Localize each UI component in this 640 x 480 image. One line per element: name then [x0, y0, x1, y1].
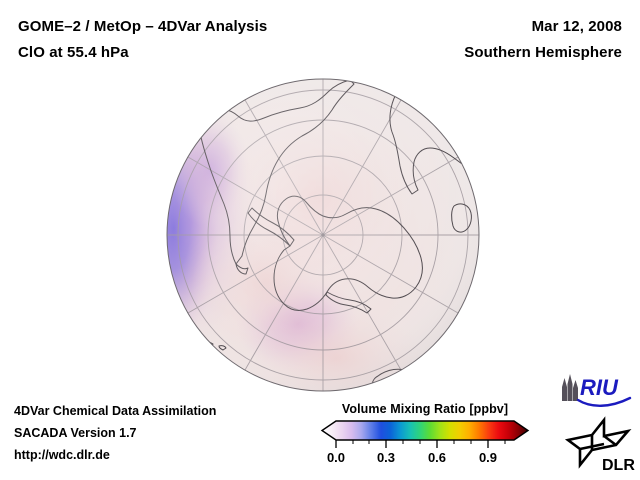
globe-svg — [166, 78, 480, 392]
colorbar: Volume Mixing Ratio [ppbv] — [312, 402, 538, 471]
dlr-logo-svg: DLR — [564, 414, 636, 476]
riu-tower-mark — [562, 374, 578, 401]
colorbar-gradient-bar — [322, 421, 528, 440]
riu-logo-svg: RIU — [558, 371, 638, 409]
colorbar-tick-label-0: 0.0 — [327, 450, 345, 465]
dlr-logo-text: DLR — [602, 457, 635, 474]
colorbar-svg: 0.0 0.3 0.6 0.9 — [312, 419, 538, 471]
colorbar-tick-label-2: 0.6 — [428, 450, 446, 465]
riu-logo-text: RIU — [580, 375, 619, 400]
coastline-new-zealand — [452, 377, 466, 390]
page-title: GOME–2 / MetOp – 4DVar Analysis — [18, 14, 267, 40]
globe-map — [166, 78, 480, 392]
region-label: Southern Hemisphere — [464, 40, 622, 66]
colorbar-tick-label-1: 0.3 — [377, 450, 395, 465]
colorbar-title: Volume Mixing Ratio [ppbv] — [312, 402, 538, 416]
sphere-shading — [167, 79, 479, 391]
colorbar-ticks — [336, 440, 488, 448]
observation-date: Mar 12, 2008 — [464, 14, 622, 40]
page-subtitle-species-level: ClO at 55.4 hPa — [18, 40, 267, 66]
footer-attribution: 4DVar Chemical Data Assimilation SACADA … — [14, 400, 216, 466]
footer-url-line: http://wdc.dlr.de — [14, 444, 216, 466]
header-left-block: GOME–2 / MetOp – 4DVar Analysis ClO at 5… — [18, 14, 267, 66]
header-right-block: Mar 12, 2008 Southern Hemisphere — [464, 14, 622, 66]
colorbar-tick-labels: 0.0 0.3 0.6 0.9 — [327, 450, 497, 465]
footer-version-line: SACADA Version 1.7 — [14, 422, 216, 444]
dlr-logo: DLR — [564, 414, 636, 476]
riu-logo: RIU — [558, 371, 638, 409]
footer-product-line: 4DVar Chemical Data Assimilation — [14, 400, 216, 422]
colorbar-tick-label-3: 0.9 — [479, 450, 497, 465]
